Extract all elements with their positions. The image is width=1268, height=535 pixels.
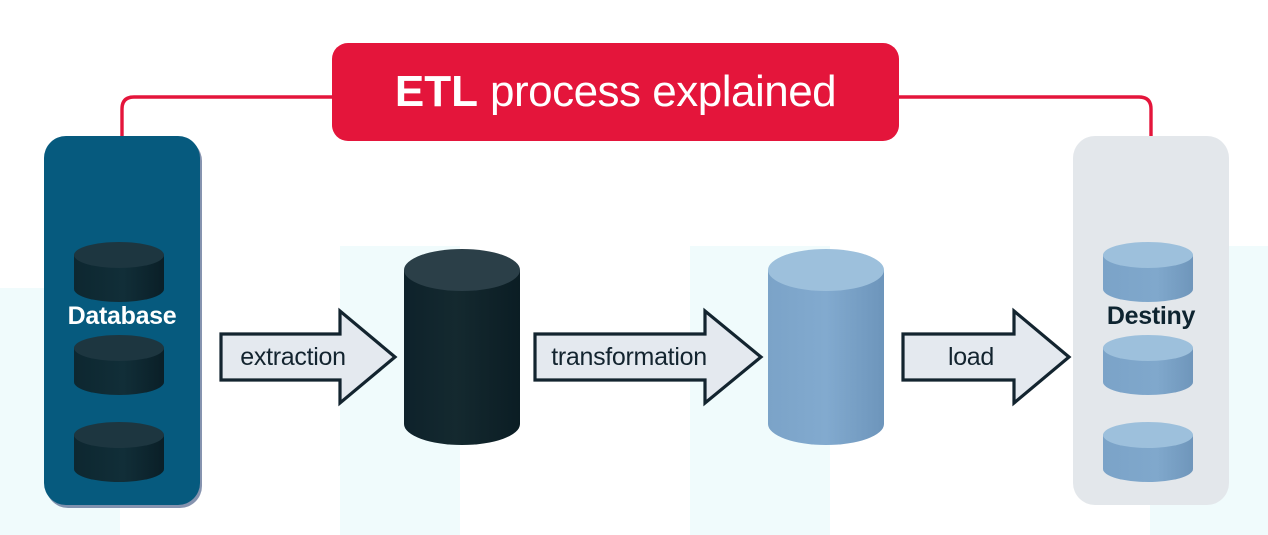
etl-diagram-canvas: Database Destiny bbox=[0, 0, 1268, 535]
arrow-transformation: transformation bbox=[532, 307, 764, 407]
source-cylinder-1 bbox=[72, 241, 166, 303]
destination-cylinder-1 bbox=[1101, 241, 1195, 303]
destination-cylinder-3 bbox=[1101, 421, 1195, 483]
source-cylinder-3 bbox=[72, 421, 166, 483]
destination-panel-label: Destiny bbox=[1073, 302, 1229, 331]
source-panel-label: Database bbox=[44, 302, 200, 331]
raw-data-cylinder bbox=[402, 248, 522, 446]
title-rest-text: process explained bbox=[490, 67, 836, 117]
title-banner: ETL process explained bbox=[332, 43, 899, 141]
source-panel: Database bbox=[44, 136, 200, 505]
source-cylinder-2 bbox=[72, 334, 166, 396]
arrow-transformation-shape bbox=[532, 307, 764, 407]
arrow-extraction: extraction bbox=[218, 307, 398, 407]
transformed-data-cylinder bbox=[766, 248, 886, 446]
arrow-extraction-shape bbox=[218, 307, 398, 407]
arrow-load-shape bbox=[900, 307, 1072, 407]
destination-cylinder-2 bbox=[1101, 334, 1195, 396]
destination-panel: Destiny bbox=[1073, 136, 1229, 505]
arrow-load: load bbox=[900, 307, 1072, 407]
title-strong-text: ETL bbox=[395, 67, 478, 117]
